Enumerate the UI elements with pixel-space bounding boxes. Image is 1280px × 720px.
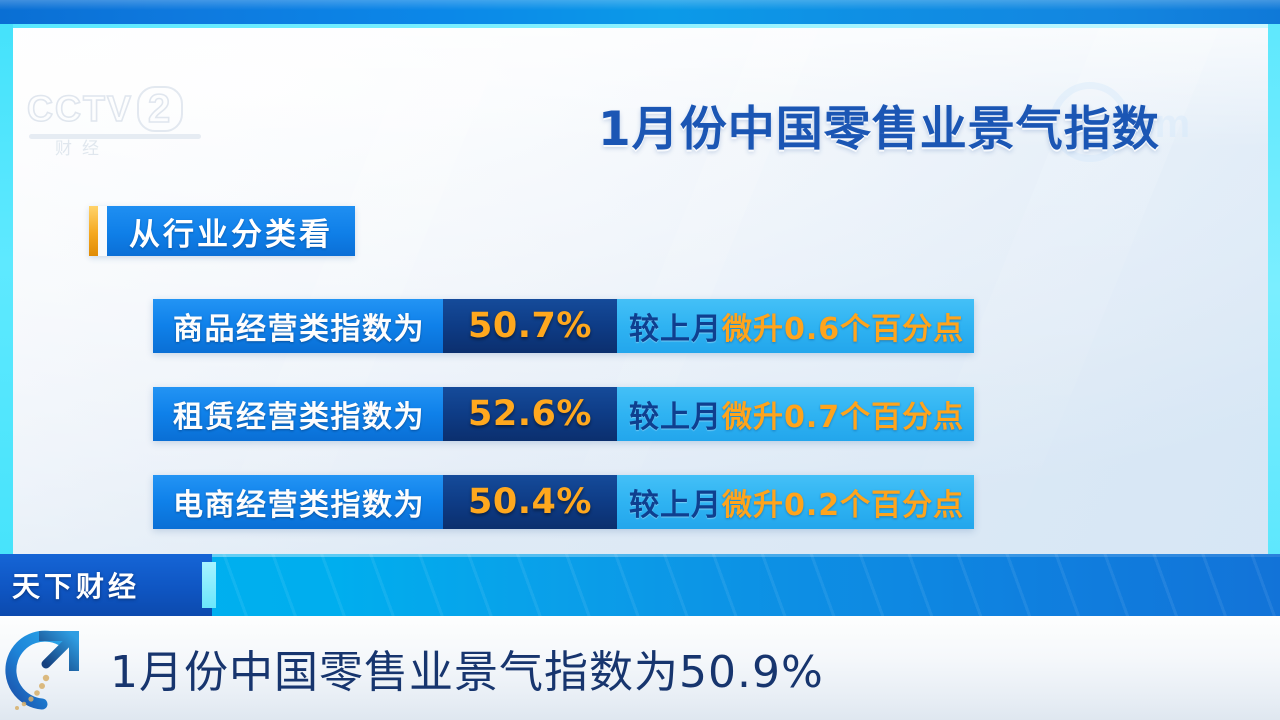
program-name-tick <box>202 562 216 608</box>
row-label-segment: 租赁经营类指数为 <box>153 387 443 441</box>
top-bar-sheen <box>0 0 1280 10</box>
cctv-channel-bug: CCTV 2 财经 <box>27 86 217 178</box>
cctv-wordmark: CCTV <box>27 88 133 130</box>
section-chip-gap <box>98 206 107 256</box>
row-value-segment: 50.4% <box>443 475 617 529</box>
row-change-text: 微升0.2个百分点 <box>722 480 964 524</box>
row-value-segment: 52.6% <box>443 387 617 441</box>
row-value-text: 50.4% <box>468 482 592 522</box>
row-label-segment: 商品经营类指数为 <box>153 299 443 353</box>
table-row: 租赁经营类指数为 52.6% 较上月 微升0.7个百分点 <box>153 387 974 441</box>
row-value-text: 52.6% <box>468 394 592 434</box>
lower-third-ticker: 1月份中国零售业景气指数为50.9% <box>0 616 1280 720</box>
content-stage: CCTV 2 财经 com 1月份中国零售业景气指数 从行业分类看 商品经营 <box>13 28 1268 554</box>
program-band: 天下财经 <box>0 554 1280 616</box>
broadcast-screen: CCTV 2 财经 com 1月份中国零售业景气指数 从行业分类看 商品经营 <box>0 0 1280 720</box>
section-chip-label: 从行业分类看 <box>129 209 333 254</box>
row-change-text: 微升0.6个百分点 <box>722 304 964 348</box>
page-title: 1月份中国零售业景气指数 <box>598 90 1160 159</box>
row-label-text: 租赁经营类指数为 <box>173 392 425 436</box>
row-note-segment: 较上月 微升0.7个百分点 <box>617 387 974 441</box>
section-chip-body: 从行业分类看 <box>107 206 355 256</box>
cctv-bug-row: CCTV 2 <box>27 86 217 132</box>
table-row: 电商经营类指数为 50.4% 较上月 微升0.2个百分点 <box>153 475 974 529</box>
table-row: 商品经营类指数为 50.7% 较上月 微升0.6个百分点 <box>153 299 974 353</box>
section-chip: 从行业分类看 <box>89 206 355 256</box>
row-note-segment: 较上月 微升0.6个百分点 <box>617 299 974 353</box>
cctv-underline <box>29 134 201 139</box>
section-chip-gold-bar <box>89 206 98 256</box>
row-value-segment: 50.7% <box>443 299 617 353</box>
row-note-segment: 较上月 微升0.2个百分点 <box>617 475 974 529</box>
top-blue-bar <box>0 0 1280 24</box>
program-name-block: 天下财经 <box>0 554 212 616</box>
lower-third-headline: 1月份中国零售业景气指数为50.9% <box>110 636 824 700</box>
row-label-text: 商品经营类指数为 <box>173 304 425 348</box>
row-change-text: 微升0.7个百分点 <box>722 392 964 436</box>
cctv-channel-number: 2 <box>137 86 183 132</box>
row-compare-text: 较上月 <box>629 304 722 348</box>
row-label-segment: 电商经营类指数为 <box>153 475 443 529</box>
program-name: 天下财经 <box>12 565 140 605</box>
circular-arrow-icon <box>2 618 110 718</box>
row-compare-text: 较上月 <box>629 392 722 436</box>
right-cyan-rail <box>1268 24 1280 554</box>
data-rows: 商品经营类指数为 50.7% 较上月 微升0.6个百分点 租赁经营类指数为 52… <box>153 299 974 563</box>
left-cyan-rail <box>0 24 13 554</box>
row-value-text: 50.7% <box>468 306 592 346</box>
row-label-text: 电商经营类指数为 <box>173 480 425 524</box>
row-compare-text: 较上月 <box>629 480 722 524</box>
